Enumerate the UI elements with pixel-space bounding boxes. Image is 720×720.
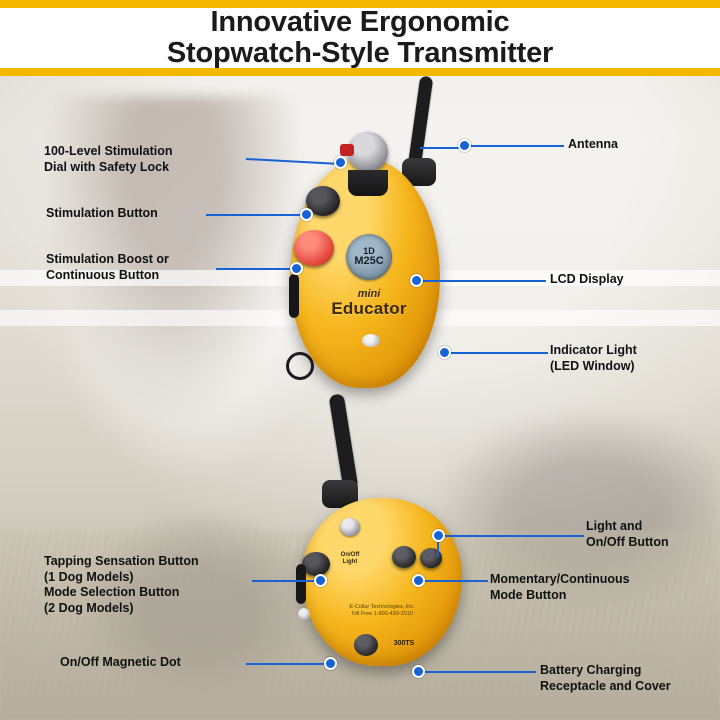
brand-text: mini Educator	[310, 288, 428, 318]
callout-light-onoff: Light and On/Off Button	[586, 519, 720, 550]
callout-momentary-continuous: Momentary/Continuous Mode Button	[490, 572, 700, 603]
momentary-continuous-mode-button[interactable]	[392, 546, 416, 568]
leader-antenna	[464, 145, 564, 147]
callout-antenna: Antenna	[568, 137, 718, 153]
tapping-mode-selection-button[interactable]	[302, 552, 330, 576]
onoff-magnetic-dot	[298, 608, 310, 620]
header-title-line1: Innovative Ergonomic	[211, 7, 510, 37]
leader-battery	[420, 671, 536, 673]
side-rubber-strip-back	[296, 564, 306, 604]
callout-stimulation-dial: 100-Level Stimulation Dial with Safety L…	[44, 144, 264, 175]
dot-dial	[334, 156, 347, 169]
dot-indicator	[438, 346, 451, 359]
callout-magnetic-dot: On/Off Magnetic Dot	[60, 655, 280, 671]
leader-indicator	[448, 352, 548, 354]
dial-ring-markings	[348, 170, 388, 196]
dot-boost	[290, 262, 303, 275]
device-fineprint: E-Collar Technologies, Inc. Toll Free 1-…	[318, 604, 446, 618]
callout-boost-continuous: Stimulation Boost or Continuous Button	[46, 252, 266, 283]
transmitter-back-view: On/Off Light E-Collar Technologies, Inc.…	[276, 340, 476, 670]
dot-antenna	[458, 139, 471, 152]
dot-tapping	[314, 574, 327, 587]
light-onoff-button[interactable]	[340, 518, 360, 536]
dot-stim-button	[300, 208, 313, 221]
callout-stimulation-button: Stimulation Button	[46, 206, 256, 222]
dot-momentary	[412, 574, 425, 587]
antenna	[408, 76, 434, 169]
callout-indicator-light: Indicator Light (LED Window)	[550, 343, 710, 374]
leader-lcd	[418, 280, 546, 282]
dot-battery	[412, 665, 425, 678]
header-title-line2: Stopwatch-Style Transmitter	[167, 37, 553, 69]
header-banner: Innovative Ergonomic Stopwatch-Style Tra…	[0, 0, 720, 76]
callout-battery-charging: Battery Charging Receptacle and Cover	[540, 663, 720, 694]
battery-charging-receptacle-cover[interactable]	[354, 634, 378, 656]
dot-light-onoff	[432, 529, 445, 542]
leader-momentary	[420, 580, 488, 582]
callout-lcd-display: LCD Display	[550, 272, 710, 288]
onoff-light-label: On/Off Light	[326, 552, 374, 566]
dot-lcd	[410, 274, 423, 287]
infographic-page: Innovative Ergonomic Stopwatch-Style Tra…	[0, 0, 720, 720]
brand-educator: Educator	[310, 300, 428, 318]
leader-light-onoff	[442, 535, 584, 537]
callout-tapping-mode: Tapping Sensation Button (1 Dog Models) …	[44, 554, 294, 616]
antenna-back	[329, 393, 359, 490]
side-rubber-strip	[289, 274, 299, 318]
lcd-display: 1D M25C	[346, 234, 392, 280]
dial-safety-lock[interactable]	[340, 144, 354, 156]
dot-magnetic	[324, 657, 337, 670]
lcd-line-2: M25C	[354, 256, 383, 267]
stimulation-dial[interactable]	[348, 132, 388, 172]
model-badge: 300TS	[384, 640, 424, 647]
boost-continuous-button[interactable]	[294, 230, 334, 266]
